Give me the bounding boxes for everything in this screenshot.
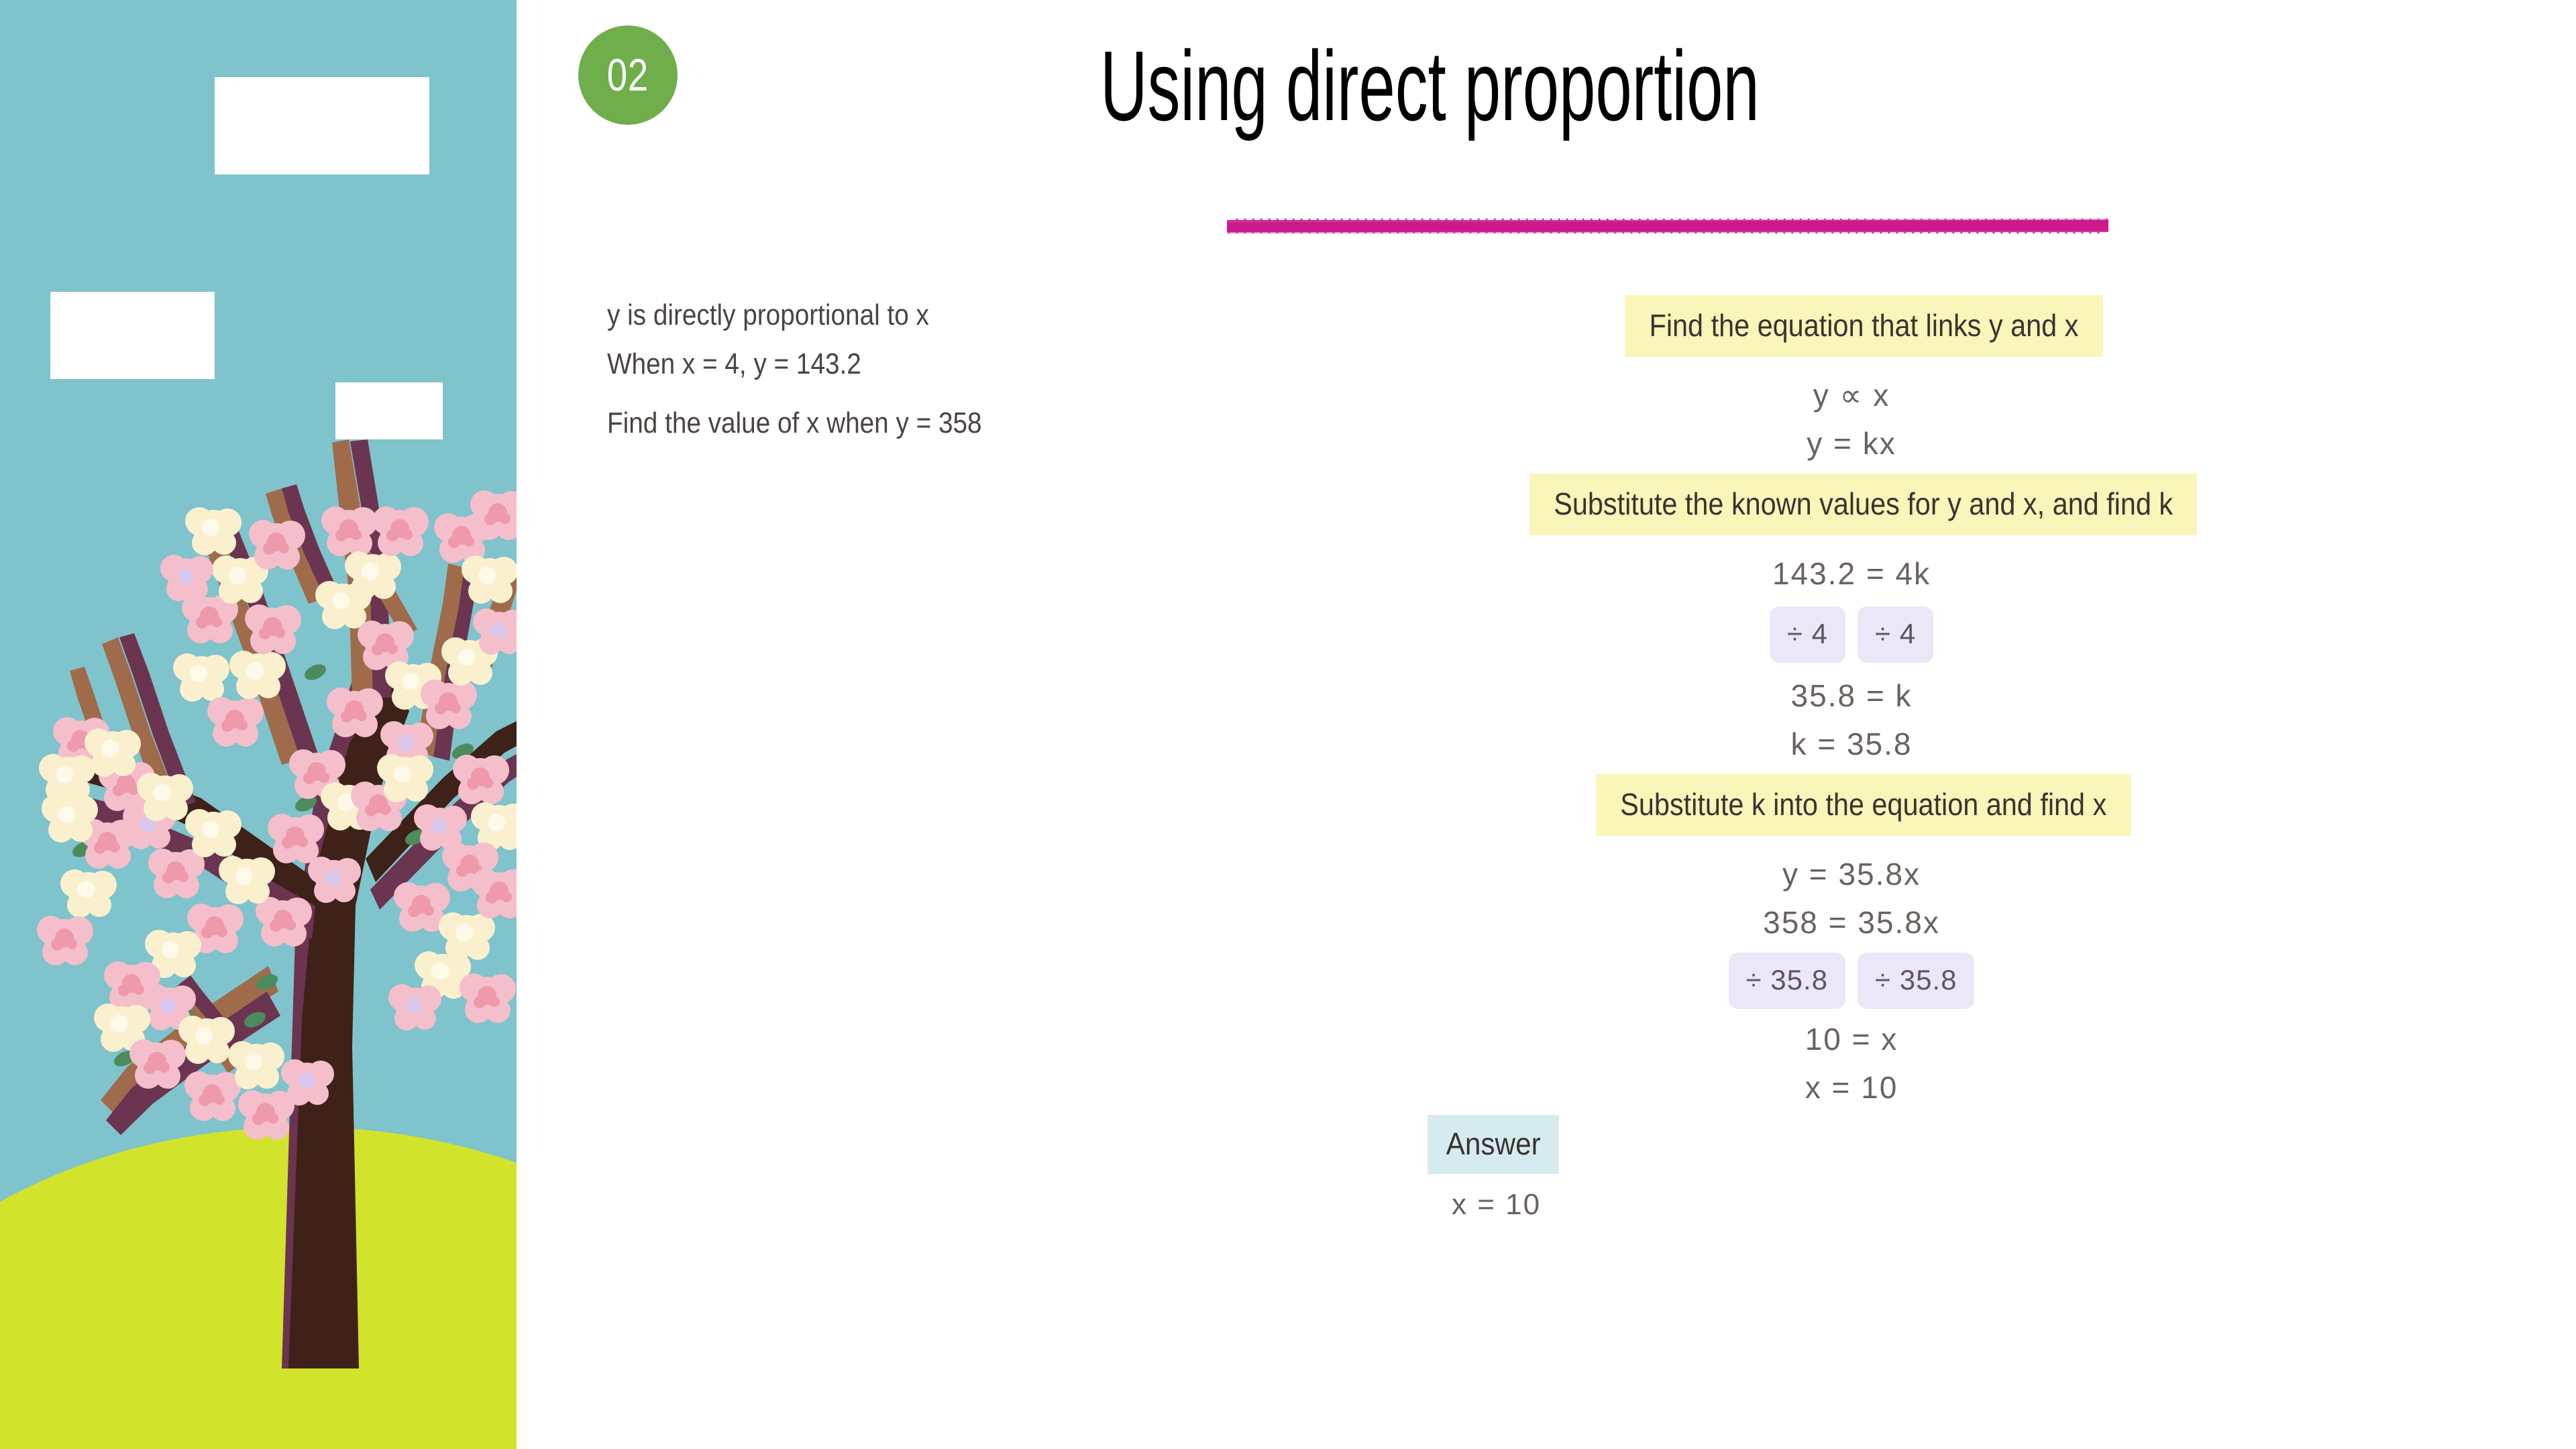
step3-instruction: Substitute k into the equation and find … [1596, 774, 2131, 836]
step2-op-left: ÷ 4 [1770, 606, 1845, 663]
problem-line-1: y is directly proportional to x [607, 301, 1097, 330]
step2-line-result: k = 35.8 [1409, 729, 2294, 759]
answer-value: x = 10 [1452, 1190, 2294, 1220]
illustration-panel [0, 0, 517, 1449]
step3-op-left: ÷ 35.8 [1729, 953, 1845, 1009]
step1-line-2: y = kx [1409, 428, 2294, 459]
problem-statement: y is directly proportional to x When x =… [607, 301, 1097, 458]
cherry-tree-graphic [0, 0, 517, 1449]
step-number-label: 02 [607, 49, 649, 101]
working-column: Find the equation that links y and x y ∝… [1409, 295, 2294, 1220]
step3-line-2: 358 = 35.8x [1409, 907, 2294, 938]
step3-line-4: x = 10 [1409, 1072, 2294, 1103]
step2-operation-row: ÷ 4 ÷ 4 [1409, 606, 2294, 663]
step2-instruction-row: Substitute the known values for y and x,… [1433, 474, 2294, 535]
problem-line-3: Find the value of x when y = 358 [607, 409, 1097, 438]
step1-instruction-row: Find the equation that links y and x [1433, 295, 2294, 357]
step3-instruction-row: Substitute k into the equation and find … [1433, 774, 2294, 836]
step3-line-1: y = 35.8x [1409, 859, 2294, 890]
slide-root: 02 Using direct proportion y is directly… [0, 0, 2576, 1449]
step2-line-before: 143.2 = 4k [1409, 558, 2294, 589]
step3-op-right: ÷ 35.8 [1858, 953, 1974, 1009]
step3-operation-row: ÷ 35.8 ÷ 35.8 [1409, 953, 2294, 1009]
step1-line-1: y ∝ x [1409, 380, 2294, 411]
step1-instruction: Find the equation that links y and x [1625, 295, 2102, 357]
step2-op-right: ÷ 4 [1858, 606, 1933, 663]
step-number-badge: 02 [578, 25, 678, 125]
step3-line-3: 10 = x [1409, 1024, 2294, 1055]
step2-line-after: 35.8 = k [1409, 680, 2294, 711]
problem-line-2: When x = 4, y = 143.2 [607, 350, 1097, 379]
answer-block: Answer x = 10 [1428, 1115, 2294, 1220]
answer-label: Answer [1428, 1115, 1559, 1174]
step2-instruction: Substitute the known values for y and x,… [1530, 474, 2198, 535]
title-underline-scribble [1224, 216, 2111, 236]
page-title: Using direct proportion [1100, 37, 1760, 136]
